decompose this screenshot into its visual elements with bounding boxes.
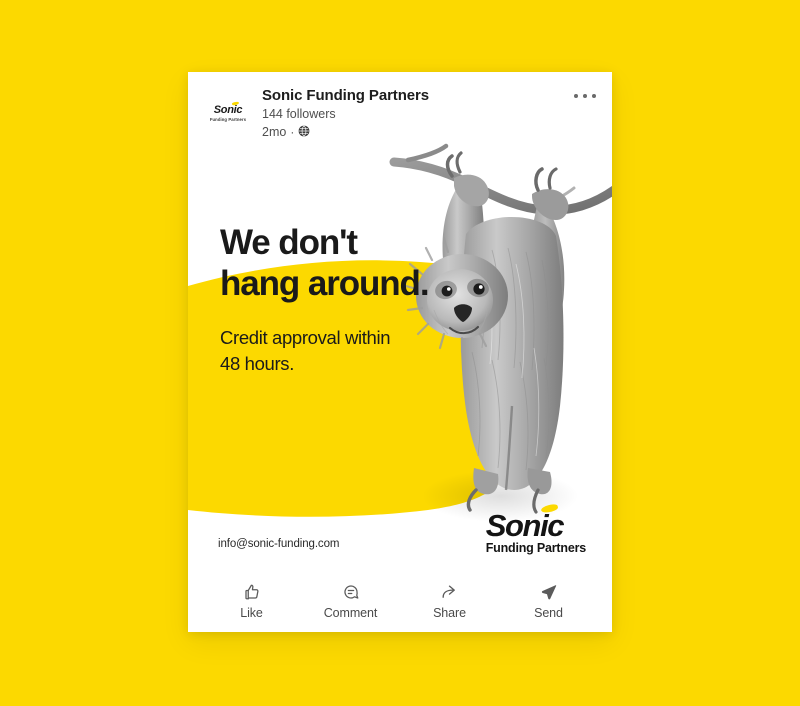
avatar-brand-text: Sonic (214, 104, 242, 116)
share-button[interactable]: Share (400, 578, 499, 624)
more-options-icon[interactable] (574, 94, 596, 98)
share-button-label: Share (433, 606, 466, 620)
share-arrow-icon (440, 582, 460, 602)
creative-headline: We don't hang around. (220, 222, 428, 305)
creative-subheadline: Credit approval within 48 hours. (220, 325, 390, 378)
avatar-tagline: Funding Partners (210, 118, 246, 122)
comment-button-label: Comment (324, 606, 377, 620)
like-button-label: Like (240, 606, 263, 620)
brand-tagline: Funding Partners (486, 542, 586, 556)
more-dot (592, 94, 596, 98)
post-author-name[interactable]: Sonic Funding Partners (262, 87, 429, 105)
more-dot (583, 94, 587, 98)
avatar-brand-name: Sonic (214, 105, 242, 116)
post-creative-image[interactable]: We don't hang around. Credit approval wi… (188, 138, 612, 574)
post-author-info: Sonic Funding Partners 144 followers 2mo… (262, 87, 429, 141)
brand-lockup: Sonic Funding Partners (486, 510, 586, 556)
send-button-label: Send (534, 606, 563, 620)
more-dot (574, 94, 578, 98)
brand-name: Sonic (486, 510, 563, 541)
like-button[interactable]: Like (202, 578, 301, 624)
social-post-card: Sonic Funding Partners Sonic Funding Par… (188, 72, 612, 632)
comment-button[interactable]: Comment (301, 578, 400, 624)
send-paper-plane-icon (539, 582, 559, 602)
comment-bubble-icon (341, 582, 361, 602)
post-author-followers: 144 followers (262, 106, 429, 123)
post-header: Sonic Funding Partners Sonic Funding Par… (188, 72, 612, 138)
post-action-bar: Like Comment Share (188, 574, 612, 632)
thumbs-up-icon (242, 582, 262, 602)
avatar[interactable]: Sonic Funding Partners (204, 90, 252, 138)
brand-name-text: Sonic (486, 508, 563, 543)
creative-email[interactable]: info@sonic-funding.com (218, 538, 339, 550)
send-button[interactable]: Send (499, 578, 598, 624)
